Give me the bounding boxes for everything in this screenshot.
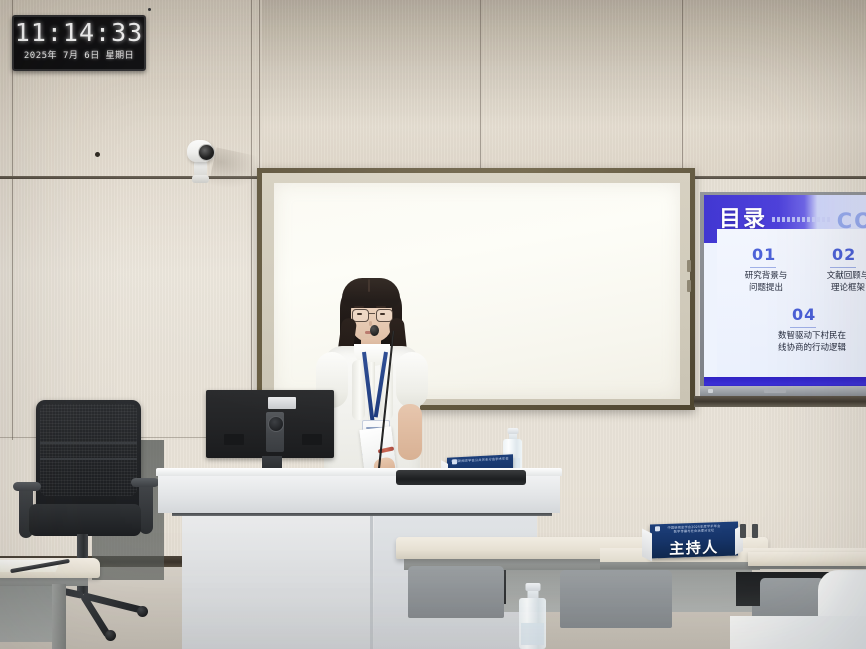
display-brand-logo <box>764 389 786 393</box>
presenter-hair-part <box>368 279 370 292</box>
monitor-vent <box>224 434 244 445</box>
bottle-label <box>521 623 544 645</box>
foreground-table-edge <box>730 616 866 649</box>
presenter <box>318 278 426 486</box>
bottle-neck <box>527 591 538 598</box>
water-bottle-table[interactable] <box>519 583 546 649</box>
chair-caster <box>137 606 148 617</box>
wall-seam <box>251 0 252 440</box>
chair-lumbar-bar <box>40 458 137 460</box>
presenter-eye <box>380 313 385 315</box>
security-camera <box>186 140 216 185</box>
dell-logo-icon <box>268 416 284 432</box>
chair-seat <box>29 504 141 536</box>
chair-caster <box>105 630 116 641</box>
presenter-arm-right <box>398 404 422 460</box>
display-wall-mount <box>694 396 866 407</box>
slide-content-card: 01 研究背景与 问题提出 02 文献回顾与 理论框架 04 数智驱动下村民在 … <box>717 229 866 389</box>
whiteboard-hinge <box>687 280 691 292</box>
nameplate-subtitle: 中国新闻史学会公共关系分会学术年会 <box>447 456 513 463</box>
display-power-led-icon <box>708 389 713 393</box>
table-leg <box>52 584 66 649</box>
ceiling-sensor-dot <box>148 8 151 11</box>
nameplate-stand <box>642 529 652 562</box>
camera-base <box>192 175 209 183</box>
monitor-spec-label <box>268 397 296 409</box>
table-under-shelf <box>0 586 52 642</box>
microphone-capsule-icon <box>370 325 379 336</box>
presenter-ruffle <box>352 360 365 420</box>
front-left-table <box>0 558 106 649</box>
slide-contents: 目录 CO 01 研究背景与 问题提出 02 文献回顾与 理论框架 04 数智驱… <box>704 195 866 389</box>
clock-time: 11:14:33 <box>14 18 144 48</box>
wall-led-clock: 11:14:33 2025年 7月 6日 星期日 <box>12 15 146 71</box>
slide-item-text: 数智驱动下村民在 线协商的行动逻辑 <box>757 330 866 354</box>
chair-lumbar-bar <box>40 442 137 444</box>
bottle-cap <box>525 583 540 591</box>
microphone-base <box>396 470 526 485</box>
presenter-sleeve-right <box>396 352 428 408</box>
nameplate-label: 主持人 <box>650 535 738 558</box>
presenter-hair-top <box>342 278 400 308</box>
wall-mount-dot <box>95 152 100 157</box>
slide-item-text: 研究背景与 问题提出 <box>727 270 805 294</box>
presenter-eyebrow <box>376 306 386 308</box>
presenter-eyebrow <box>354 306 364 308</box>
camera-lens-icon <box>198 144 215 161</box>
presentation-display[interactable]: 目录 CO 01 研究背景与 问题提出 02 文献回顾与 理论框架 04 数智驱… <box>700 192 866 407</box>
slide-item-number: 02 <box>832 245 856 264</box>
podium-body-edge <box>370 515 373 649</box>
side-table <box>748 552 866 566</box>
presenter-eye <box>357 313 362 315</box>
slide-item-text: 文献回顾与 理论框架 <box>809 270 866 294</box>
slide-item-number: 04 <box>792 305 816 324</box>
desk-microphone[interactable] <box>740 524 746 538</box>
clock-date: 2025年 7月 6日 星期日 <box>14 48 144 61</box>
chair-armrest-pad <box>13 482 41 491</box>
display-screen: 目录 CO 01 研究背景与 问题提出 02 文献回顾与 理论框架 04 数智驱… <box>704 195 866 389</box>
conference-room-scene: 11:14:33 2025年 7月 6日 星期日 目录 CO 01 <box>0 0 866 649</box>
slide-decorative-dots <box>772 217 832 222</box>
whiteboard-hinge <box>687 260 691 272</box>
chair-armrest-pad <box>131 478 159 487</box>
audience-chair[interactable] <box>408 566 504 618</box>
wall-seam <box>480 0 481 176</box>
chair-armrest <box>139 480 153 534</box>
wall-seam <box>682 0 683 176</box>
nameplate-subtitle: 中国新闻史学会2025年度学术年会 数字传播与社会治理分论坛 <box>650 523 738 534</box>
desk-microphone[interactable] <box>752 524 758 538</box>
chair-mesh-texture <box>40 404 137 496</box>
glasses-bridge <box>368 313 375 314</box>
nameplate-host: 中国新闻史学会2025年度学术年会 数字传播与社会治理分论坛 主持人 <box>650 521 738 558</box>
monitor-vent <box>302 434 322 445</box>
slide-item-number: 01 <box>752 245 776 264</box>
wall-seam <box>259 0 260 176</box>
